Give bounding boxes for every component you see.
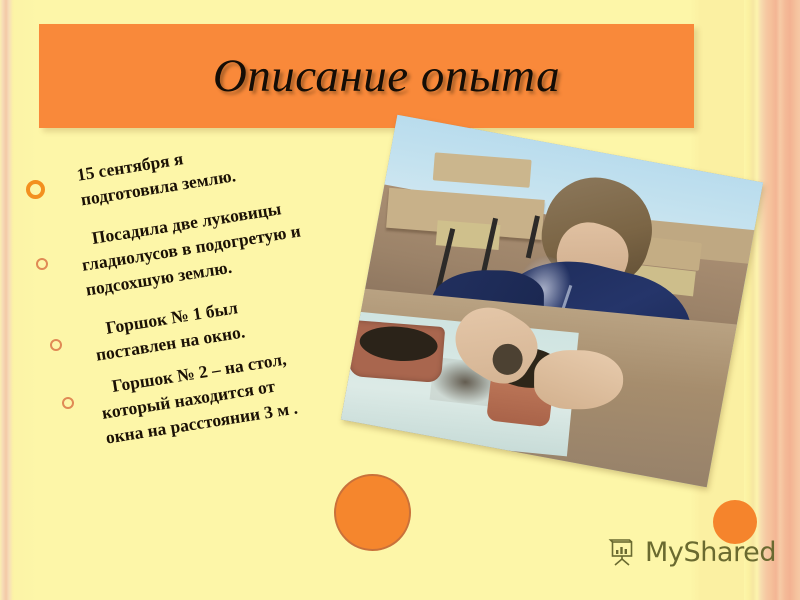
slide-canvas: Описание опыта 15 сентября я подготовила…: [0, 0, 800, 600]
myshared-label: MyShared: [645, 539, 776, 566]
myshared-watermark[interactable]: MyShared: [608, 538, 776, 566]
presentation-chart-icon: [608, 538, 638, 566]
ring-bullet-large-icon: [26, 180, 45, 199]
bullet-item-2: Посадила две луковицы гладиолусов в подо…: [76, 194, 306, 302]
photo-boy-arm-right: [534, 350, 624, 410]
ring-bullet-small-icon: [62, 397, 74, 409]
ring-bullet-small-icon: [50, 339, 62, 351]
photo-bulb: [492, 343, 523, 375]
bullet-list: 15 сентября я подготовила землю. Посадил…: [16, 150, 356, 490]
bullet-item-1: 15 сентября я подготовила землю.: [67, 139, 237, 214]
decorative-circle-large: [334, 474, 411, 551]
experiment-photo: [341, 115, 763, 488]
ring-bullet-small-icon: [36, 258, 48, 270]
page-title: Описание опыта: [39, 24, 694, 128]
photo-content: [341, 115, 763, 488]
left-edge-stripes: [0, 0, 14, 600]
